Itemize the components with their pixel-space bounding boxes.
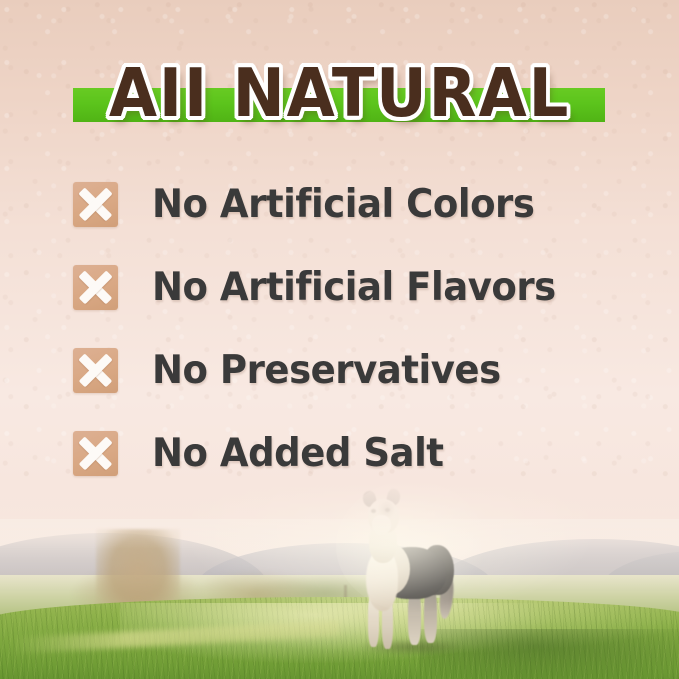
dog-backlight-glow — [336, 481, 486, 611]
x-mark-icon — [73, 348, 118, 393]
claim-label: No Artificial Colors — [152, 170, 534, 240]
title-block: AII NATURAL — [0, 48, 679, 136]
dog-photo-subject — [352, 487, 462, 665]
x-mark-icon — [73, 182, 118, 227]
page-title: AII NATURAL — [24, 48, 655, 138]
list-item: No Artificial Flavors — [0, 253, 679, 336]
claim-label: No Preservatives — [152, 336, 501, 406]
lifestyle-photo — [0, 479, 679, 679]
claims-list: No Artificial Colors No Artificial Flavo… — [0, 170, 679, 502]
x-mark-icon — [73, 431, 118, 476]
x-mark-icon — [73, 265, 118, 310]
product-infographic-poster: AII NATURAL No Artificial Colors No Arti… — [0, 0, 679, 679]
list-item: No Preservatives — [0, 336, 679, 419]
list-item: No Artificial Colors — [0, 170, 679, 253]
claim-label: No Artificial Flavors — [152, 253, 556, 323]
